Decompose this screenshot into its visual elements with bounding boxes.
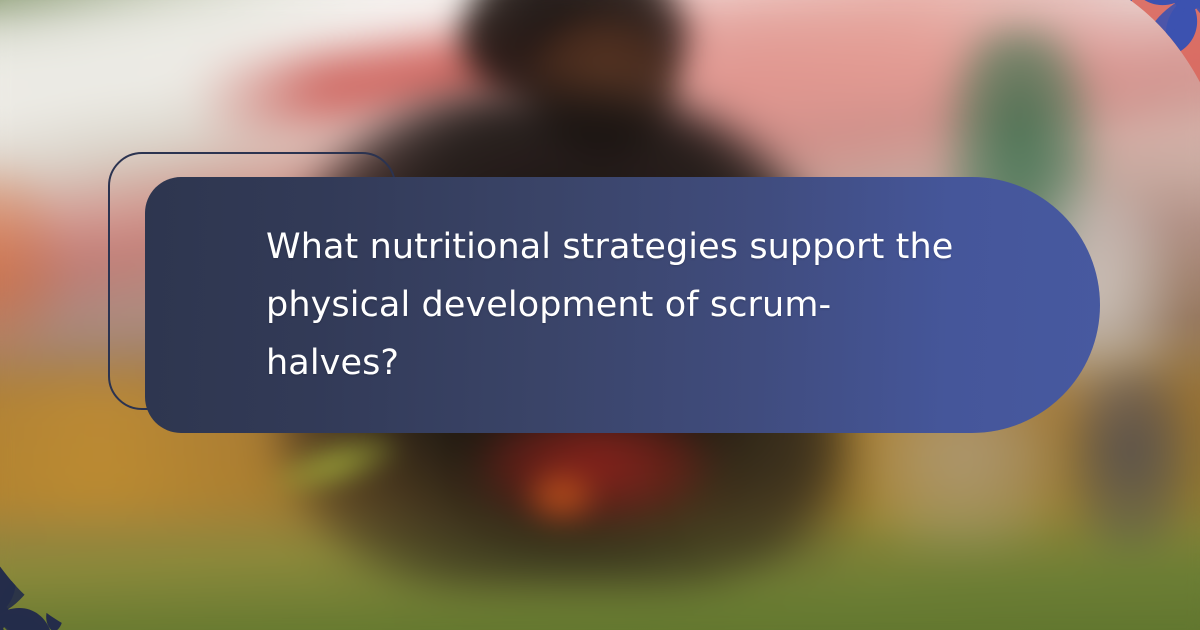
- social-card-canvas: What nutritional strategies support the …: [0, 0, 1200, 630]
- question-card: What nutritional strategies support the …: [145, 177, 1100, 433]
- question-headline: What nutritional strategies support the …: [266, 218, 956, 392]
